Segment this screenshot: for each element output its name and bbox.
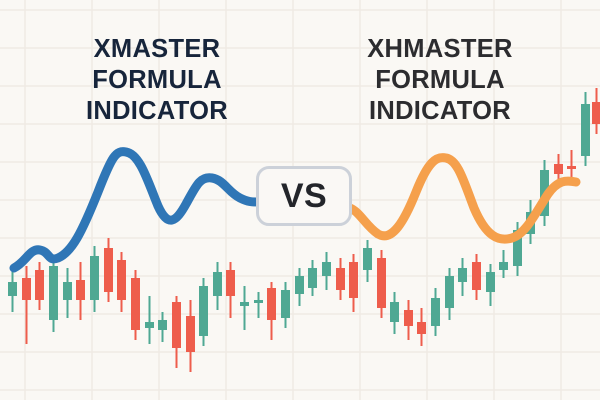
right-title-line-1: XHMASTER	[305, 34, 575, 65]
right-title-line-3: INDICATOR	[305, 96, 575, 127]
left-title-line-2: FORMULA	[22, 65, 292, 96]
left-product-title: XMASTER FORMULA INDICATOR	[22, 34, 292, 127]
right-product-title: XHMASTER FORMULA INDICATOR	[305, 34, 575, 127]
comparison-graphic: XMASTER FORMULA INDICATOR XHMASTER FORMU…	[0, 0, 600, 400]
right-title-line-2: FORMULA	[305, 65, 575, 96]
vs-badge-label: VS	[281, 179, 327, 213]
left-title-line-1: XMASTER	[22, 34, 292, 65]
xmaster-indicator-curve	[14, 152, 258, 268]
xhmaster-indicator-curve	[350, 158, 576, 239]
vs-badge: VS	[256, 166, 352, 226]
left-title-line-3: INDICATOR	[22, 96, 292, 127]
